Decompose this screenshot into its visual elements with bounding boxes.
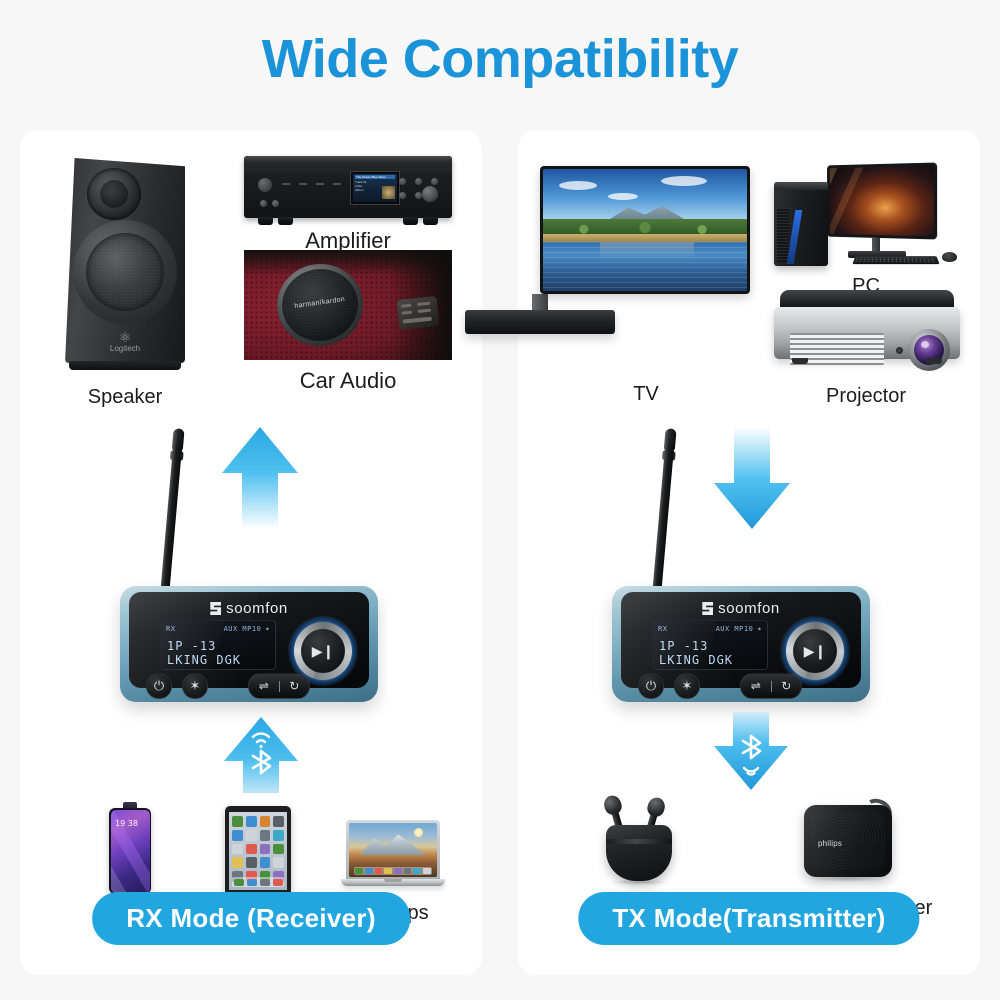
brand-wordmark: soomfon bbox=[226, 600, 288, 617]
earbuds-shadow bbox=[612, 879, 666, 885]
logitech-logo: ⚛ Logitech bbox=[110, 330, 140, 354]
bluetooth-icon: ✶ bbox=[757, 625, 762, 633]
speaker-tweeter bbox=[87, 168, 141, 220]
speaker-woofer-ring bbox=[73, 220, 177, 324]
projector-foot bbox=[792, 358, 808, 364]
bluetooth-icon: ✶ bbox=[265, 625, 270, 633]
pc-monitor-neck bbox=[872, 238, 880, 252]
pc-tower bbox=[774, 182, 828, 266]
bt-speaker-art: philips bbox=[804, 799, 896, 881]
soomfon-adapter-rx[interactable]: soomfon RX AUX MP10 ✶ 1P -13 LKING DGK ▶… bbox=[120, 428, 378, 703]
arrow-up-bluetooth-rx bbox=[222, 715, 300, 793]
tablet-art bbox=[225, 806, 291, 896]
display-source: AUX MP10 bbox=[716, 625, 754, 633]
tv-stand-base bbox=[465, 310, 615, 334]
laptop-art bbox=[341, 820, 445, 890]
tv-wallpaper-reflection bbox=[600, 242, 694, 259]
soomfon-adapter-tx[interactable]: soomfon RX AUX MP10 ✶ 1P -13 LKING DGK ▶… bbox=[612, 428, 870, 703]
brand-logo: soomfon bbox=[702, 600, 780, 617]
amplifier-small-button bbox=[399, 178, 406, 185]
antenna[interactable] bbox=[156, 428, 187, 597]
amplifier-small-button bbox=[399, 192, 406, 199]
phone-art: 19 38 bbox=[109, 808, 151, 894]
arrow-down-bluetooth-tx bbox=[712, 710, 790, 792]
tv-wallpaper-sky bbox=[543, 169, 747, 220]
car-audio-art: harman/kardon bbox=[244, 250, 452, 360]
power-button[interactable]: ⏻ bbox=[638, 673, 664, 699]
earbuds-case-lid-line bbox=[606, 839, 672, 844]
amplifier-top bbox=[244, 156, 452, 163]
pair-icon[interactable]: ⇌ bbox=[741, 679, 771, 693]
device-tile-pc: PC bbox=[766, 152, 966, 282]
projector-foot bbox=[926, 358, 942, 364]
device-tile-tv: TV bbox=[536, 158, 756, 408]
projector-lens-ring bbox=[908, 329, 950, 371]
bluetooth-button[interactable]: ✶ bbox=[674, 673, 700, 699]
amplifier-small-button bbox=[272, 200, 279, 207]
pc-monitor-screen bbox=[830, 166, 934, 237]
phone-clock: 19 38 bbox=[115, 820, 138, 828]
amplifier-foot bbox=[278, 217, 293, 225]
antenna[interactable] bbox=[648, 428, 679, 597]
adapter-display: RX AUX MP10 ✶ 1P -13 LKING DGK bbox=[652, 620, 768, 670]
projector-art bbox=[774, 290, 960, 368]
speaker-foot bbox=[69, 361, 181, 370]
laptop-notch bbox=[384, 879, 402, 882]
earbuds-case bbox=[606, 825, 672, 881]
amplifier-selector-knob bbox=[422, 186, 438, 202]
page-title: Wide Compatibility bbox=[0, 28, 1000, 90]
tablet-dock bbox=[232, 877, 284, 887]
amplifier-button-row bbox=[282, 183, 358, 185]
tv-stand-neck bbox=[532, 294, 548, 310]
label-tv: TV bbox=[633, 383, 659, 406]
tablet-app-grid bbox=[232, 816, 284, 882]
brand-mark-icon bbox=[210, 602, 221, 615]
tv-screen bbox=[543, 169, 747, 291]
play-pause-icon[interactable]: ▶❙ bbox=[301, 629, 345, 673]
play-pause-icon[interactable]: ▶❙ bbox=[793, 629, 837, 673]
mode-loop-button-pair[interactable]: ⇌ ↻ bbox=[740, 673, 802, 699]
loop-icon[interactable]: ↻ bbox=[772, 679, 802, 693]
philips-wordmark: philips bbox=[818, 839, 842, 848]
amplifier-small-button bbox=[415, 178, 422, 185]
power-button[interactable]: ⏻ bbox=[146, 673, 172, 699]
brand-wordmark: soomfon bbox=[718, 600, 780, 617]
bluetooth-button[interactable]: ✶ bbox=[182, 673, 208, 699]
amplifier-foot bbox=[403, 217, 418, 225]
laptop-lid bbox=[346, 820, 440, 880]
panel-rx-mode: ⚛ Logitech Speaker The Oce bbox=[20, 130, 482, 975]
speaker-body: ⚛ Logitech bbox=[65, 158, 185, 363]
display-source: AUX MP10 bbox=[224, 625, 262, 633]
car-door-control bbox=[397, 296, 440, 330]
amplifier-display-content: The Ocean Blue Moon Track 01 Artist Albu… bbox=[353, 174, 397, 202]
amplifier-small-button bbox=[431, 178, 438, 185]
pc-tower-led-strip bbox=[787, 210, 803, 264]
amplifier-volume-knob bbox=[258, 178, 272, 192]
mode-pill-rx[interactable]: RX Mode (Receiver) bbox=[92, 892, 410, 945]
speaker-woofer-cone bbox=[86, 233, 164, 311]
brand-logo: soomfon bbox=[210, 600, 288, 617]
device-tile-amplifier: The Ocean Blue Moon Track 01 Artist Albu… bbox=[242, 156, 454, 248]
adapter-display: RX AUX MP10 ✶ 1P -13 LKING DGK bbox=[160, 620, 276, 670]
amplifier-art: The Ocean Blue Moon Track 01 Artist Albu… bbox=[244, 156, 452, 218]
device-tile-speaker: ⚛ Logitech Speaker bbox=[60, 158, 190, 408]
pc-art bbox=[766, 152, 966, 272]
laptop-screen bbox=[349, 823, 437, 877]
laptop-dock bbox=[354, 867, 431, 875]
brand-mark-icon bbox=[702, 602, 713, 615]
pc-monitor bbox=[827, 163, 937, 240]
device-tile-projector: Projector bbox=[766, 290, 966, 410]
bt-speaker-shadow bbox=[810, 875, 886, 882]
logitech-wordmark: Logitech bbox=[110, 344, 140, 353]
infographic-page: Wide Compatibility ⚛ Logitech Speaker bbox=[0, 0, 1000, 1000]
amplifier-small-button bbox=[415, 192, 422, 199]
mode-loop-button-pair[interactable]: ⇌ ↻ bbox=[248, 673, 310, 699]
earbuds-art bbox=[592, 795, 688, 885]
amplifier-foot bbox=[423, 217, 438, 225]
loop-icon[interactable]: ↻ bbox=[280, 679, 310, 693]
laptop-wallpaper-sun bbox=[414, 828, 423, 837]
phone-body: 19 38 bbox=[109, 808, 151, 894]
pc-mouse bbox=[942, 252, 957, 262]
pc-keyboard bbox=[852, 256, 939, 264]
label-car-audio: Car Audio bbox=[300, 368, 397, 394]
pc-tower-top bbox=[774, 182, 828, 190]
amplifier-display: The Ocean Blue Moon Track 01 Artist Albu… bbox=[350, 171, 400, 205]
tv-frame bbox=[540, 166, 750, 294]
amplifier-small-button bbox=[260, 200, 267, 207]
mode-pill-tx[interactable]: TX Mode(Transmitter) bbox=[578, 892, 919, 945]
device-tile-car-audio: harman/kardon Car Audio bbox=[242, 250, 454, 410]
label-speaker: Speaker bbox=[88, 386, 163, 409]
amplifier-foot bbox=[258, 217, 273, 225]
projector-sensor bbox=[896, 347, 903, 354]
pair-icon[interactable]: ⇌ bbox=[249, 679, 279, 693]
tablet-screen bbox=[229, 812, 287, 890]
label-projector: Projector bbox=[826, 385, 906, 408]
projector-body bbox=[774, 307, 960, 359]
panel-tx-mode: TV PC bbox=[518, 130, 980, 975]
